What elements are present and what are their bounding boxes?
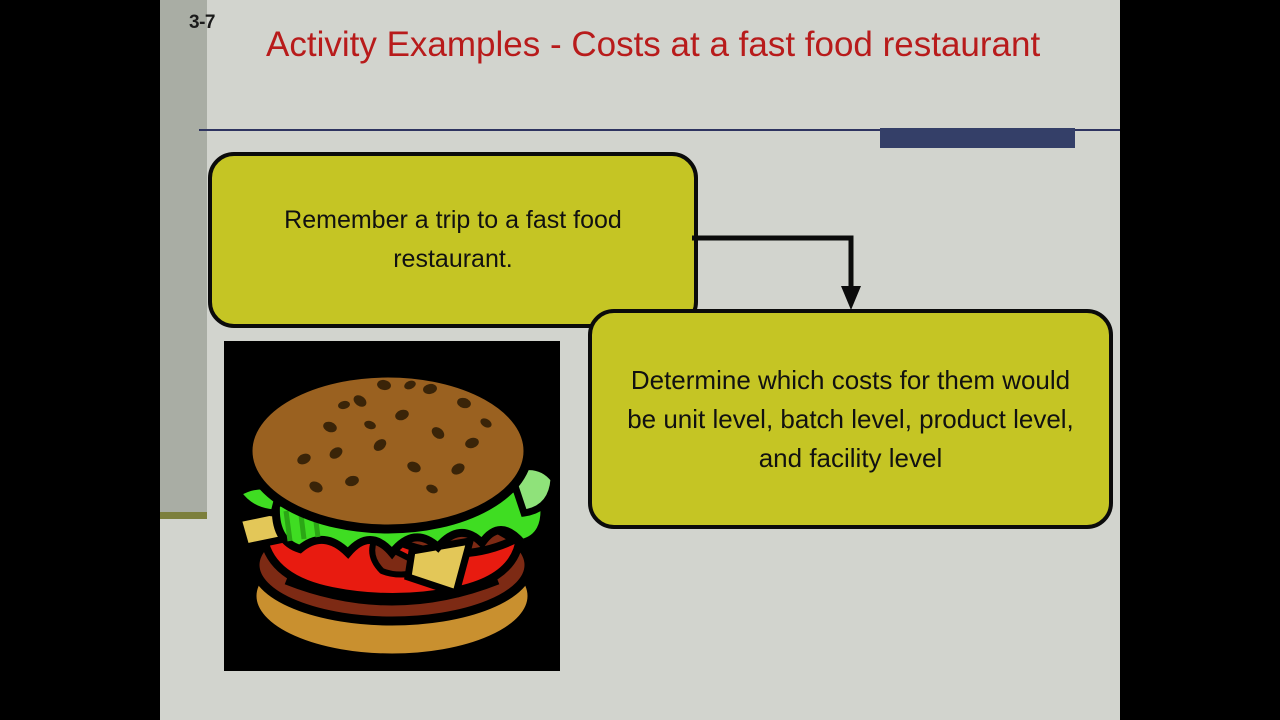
elbow-arrow-icon	[690, 230, 870, 315]
remember-callout: Remember a trip to a fast food restauran…	[208, 152, 698, 328]
sidebar-band	[160, 0, 207, 512]
hamburger-clipart	[224, 341, 560, 671]
slide-canvas: 3-7 Activity Examples - Costs at a fast …	[160, 0, 1120, 720]
remember-callout-text: Remember a trip to a fast food restauran…	[212, 201, 694, 279]
slide-number: 3-7	[189, 12, 215, 34]
determine-callout-text: Determine which costs for them would be …	[592, 361, 1109, 478]
title-accent-bar	[880, 128, 1075, 148]
slide-root: 3-7 Activity Examples - Costs at a fast …	[0, 0, 1280, 720]
sidebar-band-footer	[160, 512, 207, 519]
determine-callout: Determine which costs for them would be …	[588, 309, 1113, 529]
page-title: Activity Examples - Costs at a fast food…	[266, 18, 1076, 73]
